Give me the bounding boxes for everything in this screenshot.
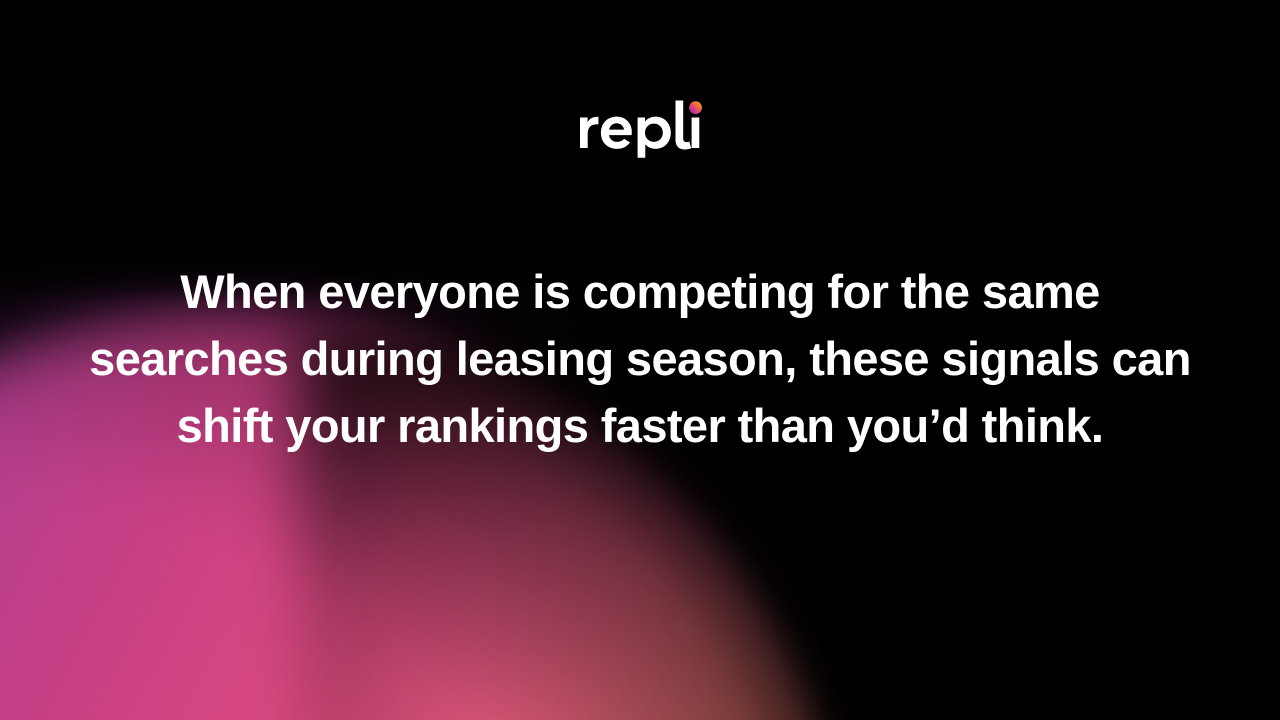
- headline-line-3: shift your rankings faster than you’d th…: [70, 392, 1210, 459]
- logo-gradient-dot-icon: [689, 101, 702, 114]
- slide-content: When everyone is competing for the same …: [0, 0, 1280, 720]
- headline-line-2: searches during leasing season, these si…: [70, 325, 1210, 392]
- headline-text: When everyone is competing for the same …: [70, 258, 1210, 459]
- brand-logo: [0, 96, 1280, 158]
- slide-canvas: When everyone is competing for the same …: [0, 0, 1280, 720]
- headline-line-1: When everyone is competing for the same: [70, 258, 1210, 325]
- repli-wordmark-icon: [578, 96, 702, 158]
